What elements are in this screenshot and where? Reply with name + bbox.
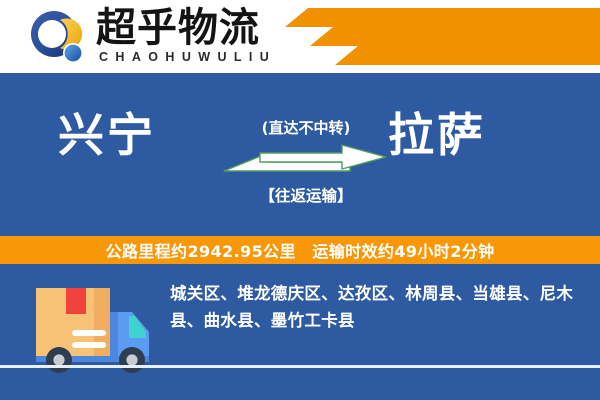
orange-speed-stripes-icon	[280, 0, 600, 73]
brand-name-en: CHAOHUWULIU	[99, 50, 276, 64]
logistics-route-banner: 超乎物流 CHAOHUWULIU 兴宁 (直达不中转) 【往返运输】 拉萨 公路…	[0, 0, 600, 400]
destination-city: 拉萨	[388, 107, 486, 163]
route-panel: 兴宁 (直达不中转) 【往返运输】 拉萨	[0, 73, 600, 236]
round-trip-note: 【往返运输】	[240, 184, 372, 206]
delivery-truck-icon	[22, 276, 162, 376]
ground-divider	[0, 365, 600, 368]
banner-header: 超乎物流 CHAOHUWULIU	[0, 0, 600, 73]
route-info-text: 公路里程约2942.95公里 运输时效约49小时2分钟	[105, 238, 494, 262]
origin-city: 兴宁	[58, 107, 156, 163]
coverage-panel: 城关区、堆龙德庆区、达孜区、林周县、当雄县、尼木县、曲水县、墨竹工卡县	[0, 264, 600, 400]
direct-route-note: (直达不中转)	[246, 117, 366, 138]
route-info-bar: 公路里程约2942.95公里 运输时效约49小时2分钟	[0, 236, 600, 264]
circle-crescent-logo-icon	[28, 9, 86, 67]
coverage-areas-text: 城关区、堆龙德庆区、达孜区、林周县、当雄县、尼木县、曲水县、墨竹工卡县	[170, 280, 582, 334]
bidirectional-arrow-icon	[222, 144, 388, 184]
brand-name-cn: 超乎物流	[96, 6, 260, 50]
